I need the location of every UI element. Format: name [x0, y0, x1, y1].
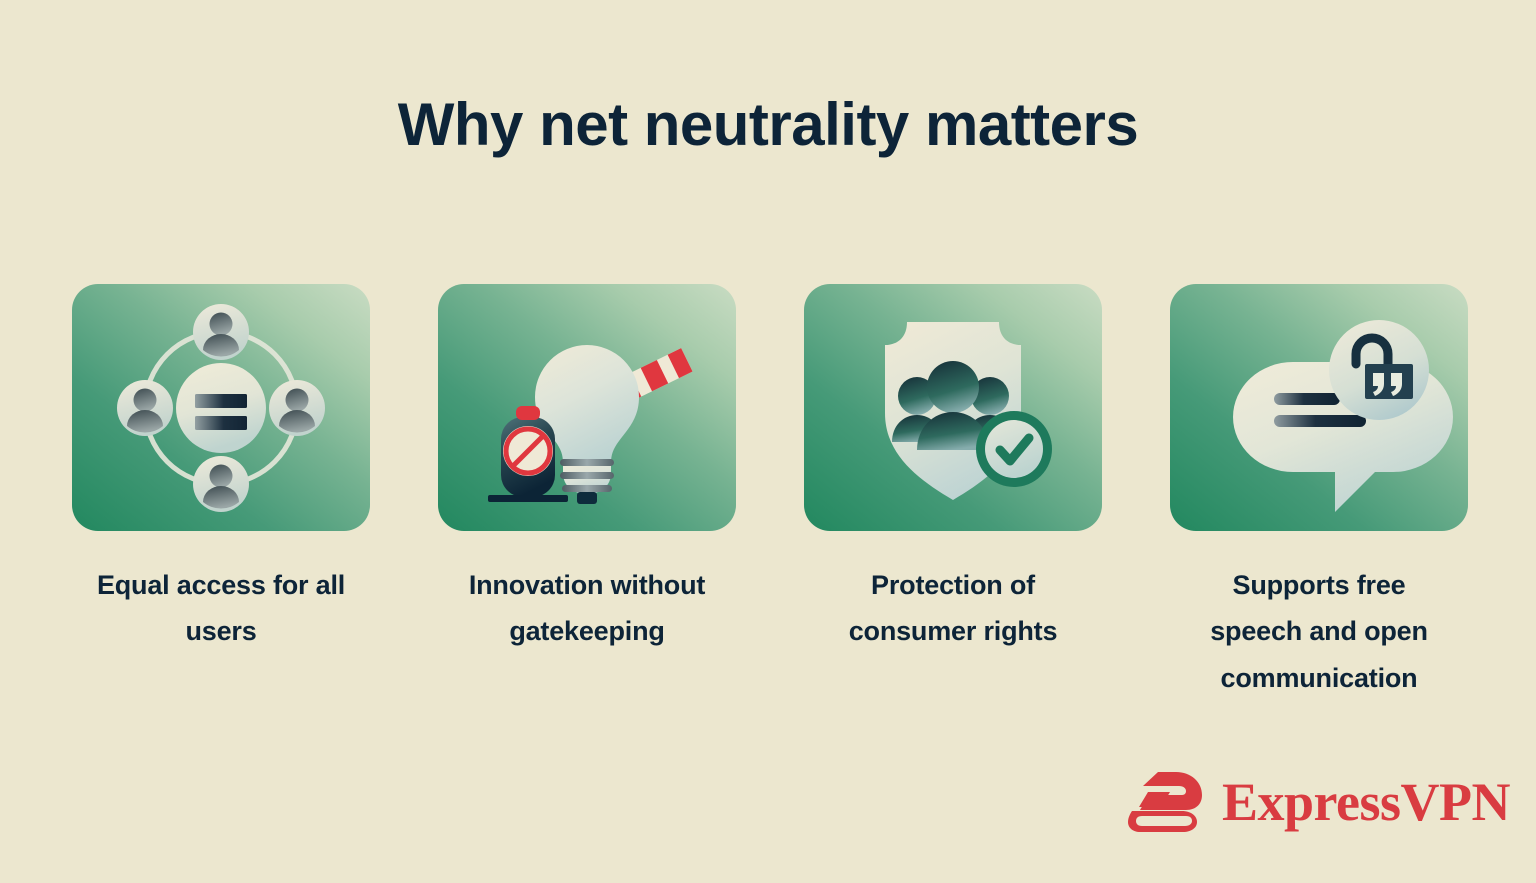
shield-people-check-icon — [804, 284, 1102, 531]
card-caption-2: Innovation without gatekeeping — [452, 562, 722, 655]
expressvpn-e-mark-icon — [1128, 770, 1206, 834]
barrier-gate-lightbulb-icon — [438, 284, 736, 531]
expressvpn-logo: ExpressVPN — [1128, 770, 1510, 834]
card-caption-4: Supports free speech and open communicat… — [1184, 562, 1454, 701]
card-tile-2 — [438, 284, 736, 531]
expressvpn-wordmark: ExpressVPN — [1222, 775, 1510, 829]
card-tile-1 — [72, 284, 370, 531]
card-tile-4 — [1170, 284, 1468, 531]
card-caption-3: Protection of consumer rights — [818, 562, 1088, 655]
benefit-card-protection: Protection of consumer rights — [804, 284, 1102, 701]
benefit-card-equal-access: Equal access for all users — [72, 284, 370, 701]
page-title: Why net neutrality matters — [0, 92, 1536, 158]
equal-access-network-icon — [72, 284, 370, 531]
card-caption-1: Equal access for all users — [86, 562, 356, 655]
card-tile-3 — [804, 284, 1102, 531]
benefit-card-innovation: Innovation without gatekeeping — [438, 284, 736, 701]
benefit-card-grid: Equal access for all users — [72, 284, 1472, 701]
infographic-canvas: Why net neutrality matters — [0, 0, 1536, 883]
speech-bubble-unlocked-quote-icon — [1170, 284, 1468, 531]
benefit-card-free-speech: Supports free speech and open communicat… — [1170, 284, 1468, 701]
